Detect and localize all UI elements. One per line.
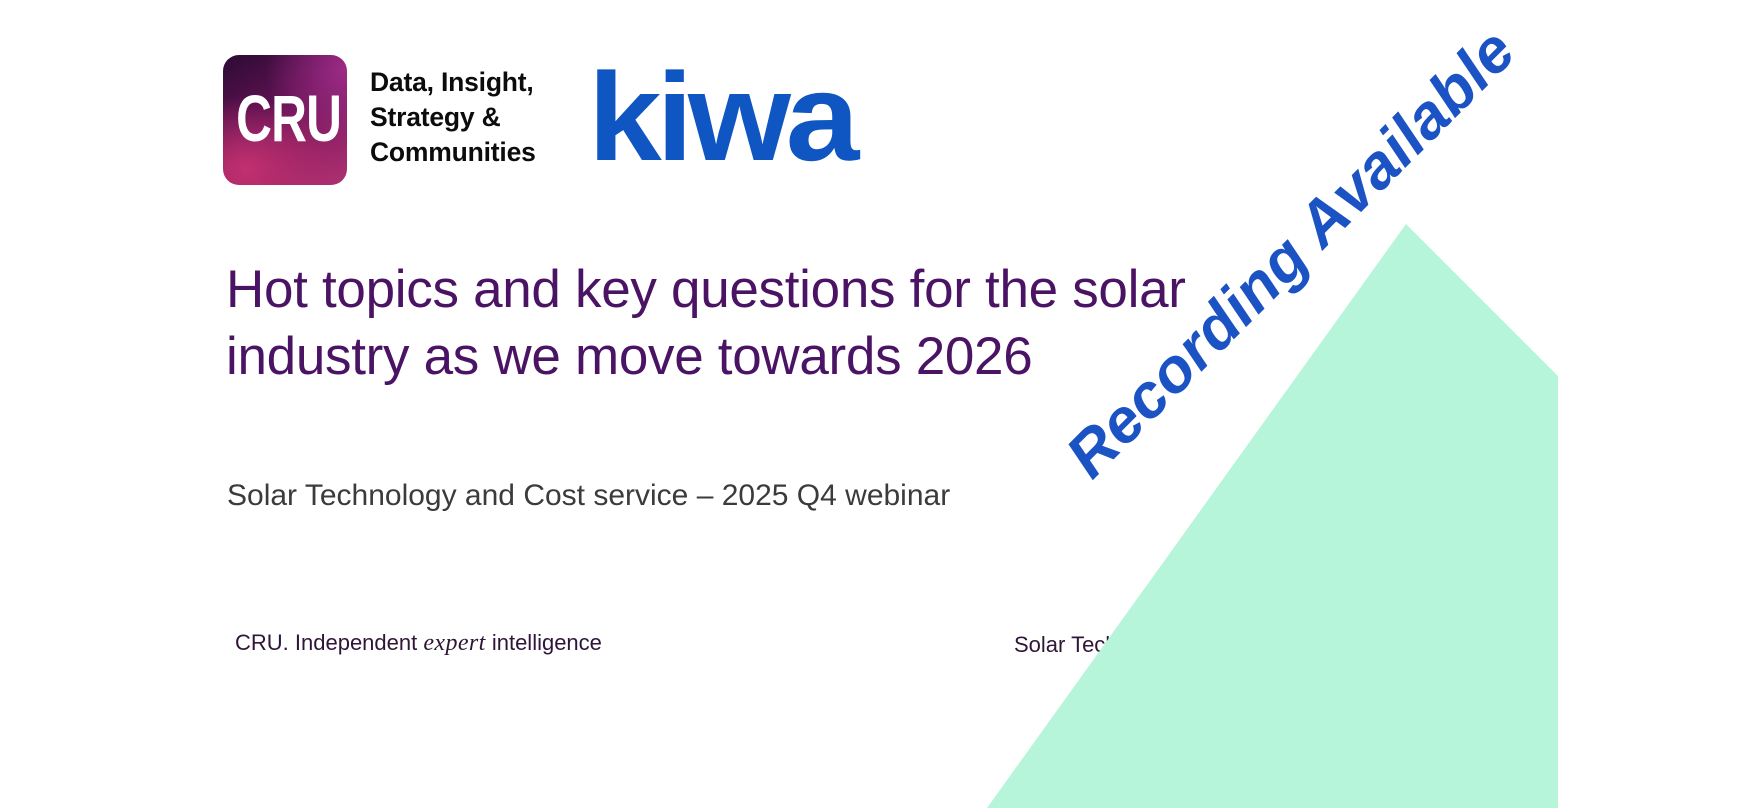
slide-canvas: CRU Data, Insight, Strategy & Communitie…	[13, 0, 1558, 808]
footer-tagline: CRU. Independent expert intelligence	[235, 628, 602, 658]
cru-tagline-line-2: Strategy &	[370, 100, 536, 135]
footer-tagline-prefix: CRU. Independent	[235, 630, 423, 655]
footer-service-name: Solar Technology and Cost Service	[1014, 630, 1356, 660]
footer-tagline-suffix: intelligence	[486, 630, 602, 655]
kiwa-logo: kiwa	[588, 55, 854, 180]
cru-tagline: Data, Insight, Strategy & Communities	[370, 55, 536, 170]
left-margin	[0, 0, 13, 808]
cru-tagline-line-3: Communities	[370, 135, 536, 170]
logo-row: CRU Data, Insight, Strategy & Communitie…	[223, 55, 839, 187]
cru-logo-mark: CRU	[223, 55, 347, 185]
cru-tagline-line-1: Data, Insight,	[370, 65, 536, 100]
footer-tagline-emphasis: expert	[423, 630, 485, 656]
right-margin	[1558, 0, 1750, 808]
slide-page: CRU Data, Insight, Strategy & Communitie…	[0, 0, 1750, 808]
recording-available-label: Recording Available	[1056, 18, 1526, 488]
cru-logo-text: CRU	[223, 89, 347, 151]
slide-subtitle: Solar Technology and Cost service – 2025…	[227, 475, 950, 517]
slide-title: Hot topics and key questions for the sol…	[226, 256, 1256, 390]
